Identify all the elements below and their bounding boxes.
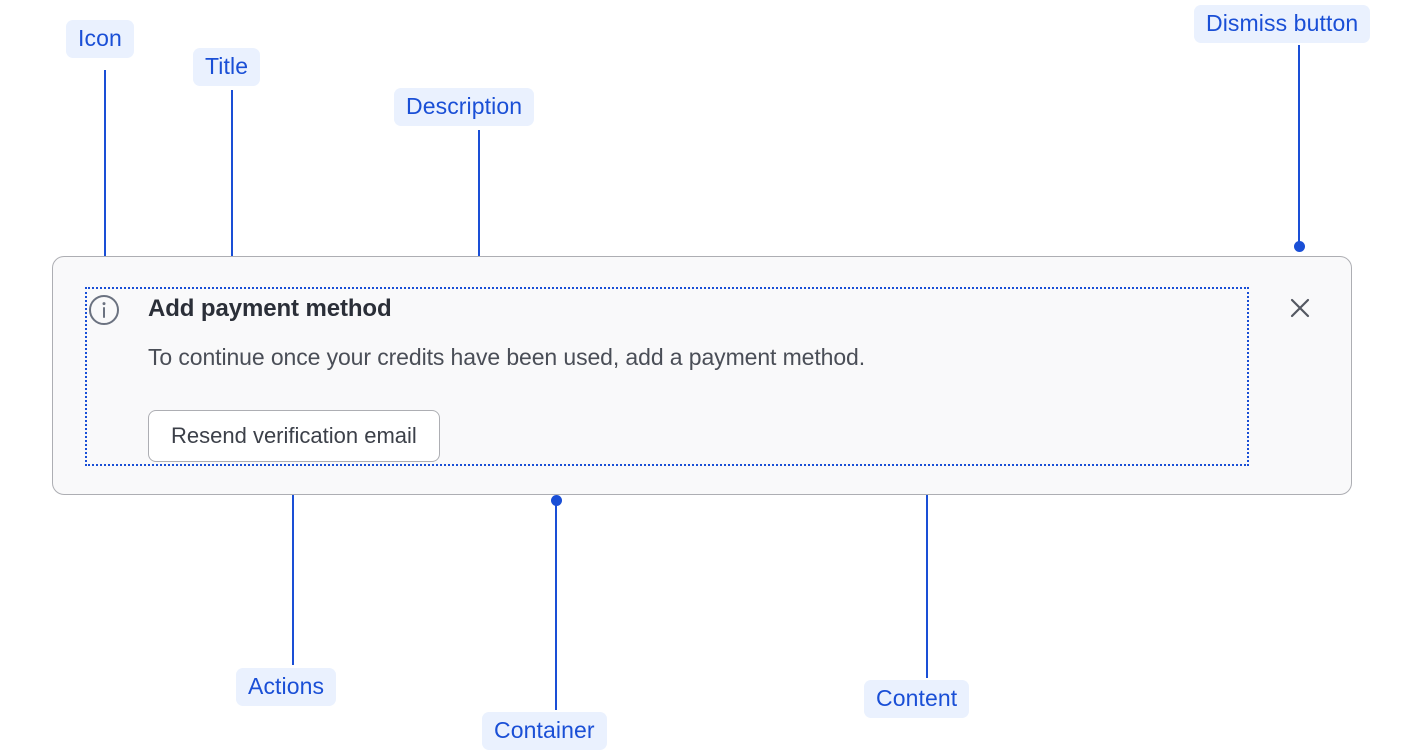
leader-line-title — [231, 90, 233, 282]
annotation-label-icon: Icon — [66, 20, 134, 58]
alert-description: To continue once your credits have been … — [148, 342, 865, 372]
leader-dot-dismiss — [1294, 241, 1305, 252]
leader-line-icon — [104, 70, 106, 272]
resend-verification-email-button[interactable]: Resend verification email — [148, 410, 440, 462]
close-x-icon — [1287, 295, 1313, 324]
leader-line-content — [926, 468, 928, 678]
annotation-label-title: Title — [193, 48, 260, 86]
info-circle-icon — [88, 294, 120, 326]
annotation-label-dismiss-button: Dismiss button — [1194, 5, 1370, 43]
leader-line-container — [555, 502, 557, 710]
leader-line-dismiss — [1298, 45, 1300, 246]
annotated-alert-diagram: Icon Title Description Dismiss button Ac… — [0, 0, 1408, 748]
alert-title: Add payment method — [148, 294, 392, 324]
annotation-label-container: Container — [482, 712, 607, 750]
leader-dot-container — [551, 495, 562, 506]
annotation-label-actions: Actions — [236, 668, 336, 706]
annotation-label-content: Content — [864, 680, 969, 718]
dismiss-button[interactable] — [1281, 290, 1319, 328]
annotation-label-description: Description — [394, 88, 534, 126]
